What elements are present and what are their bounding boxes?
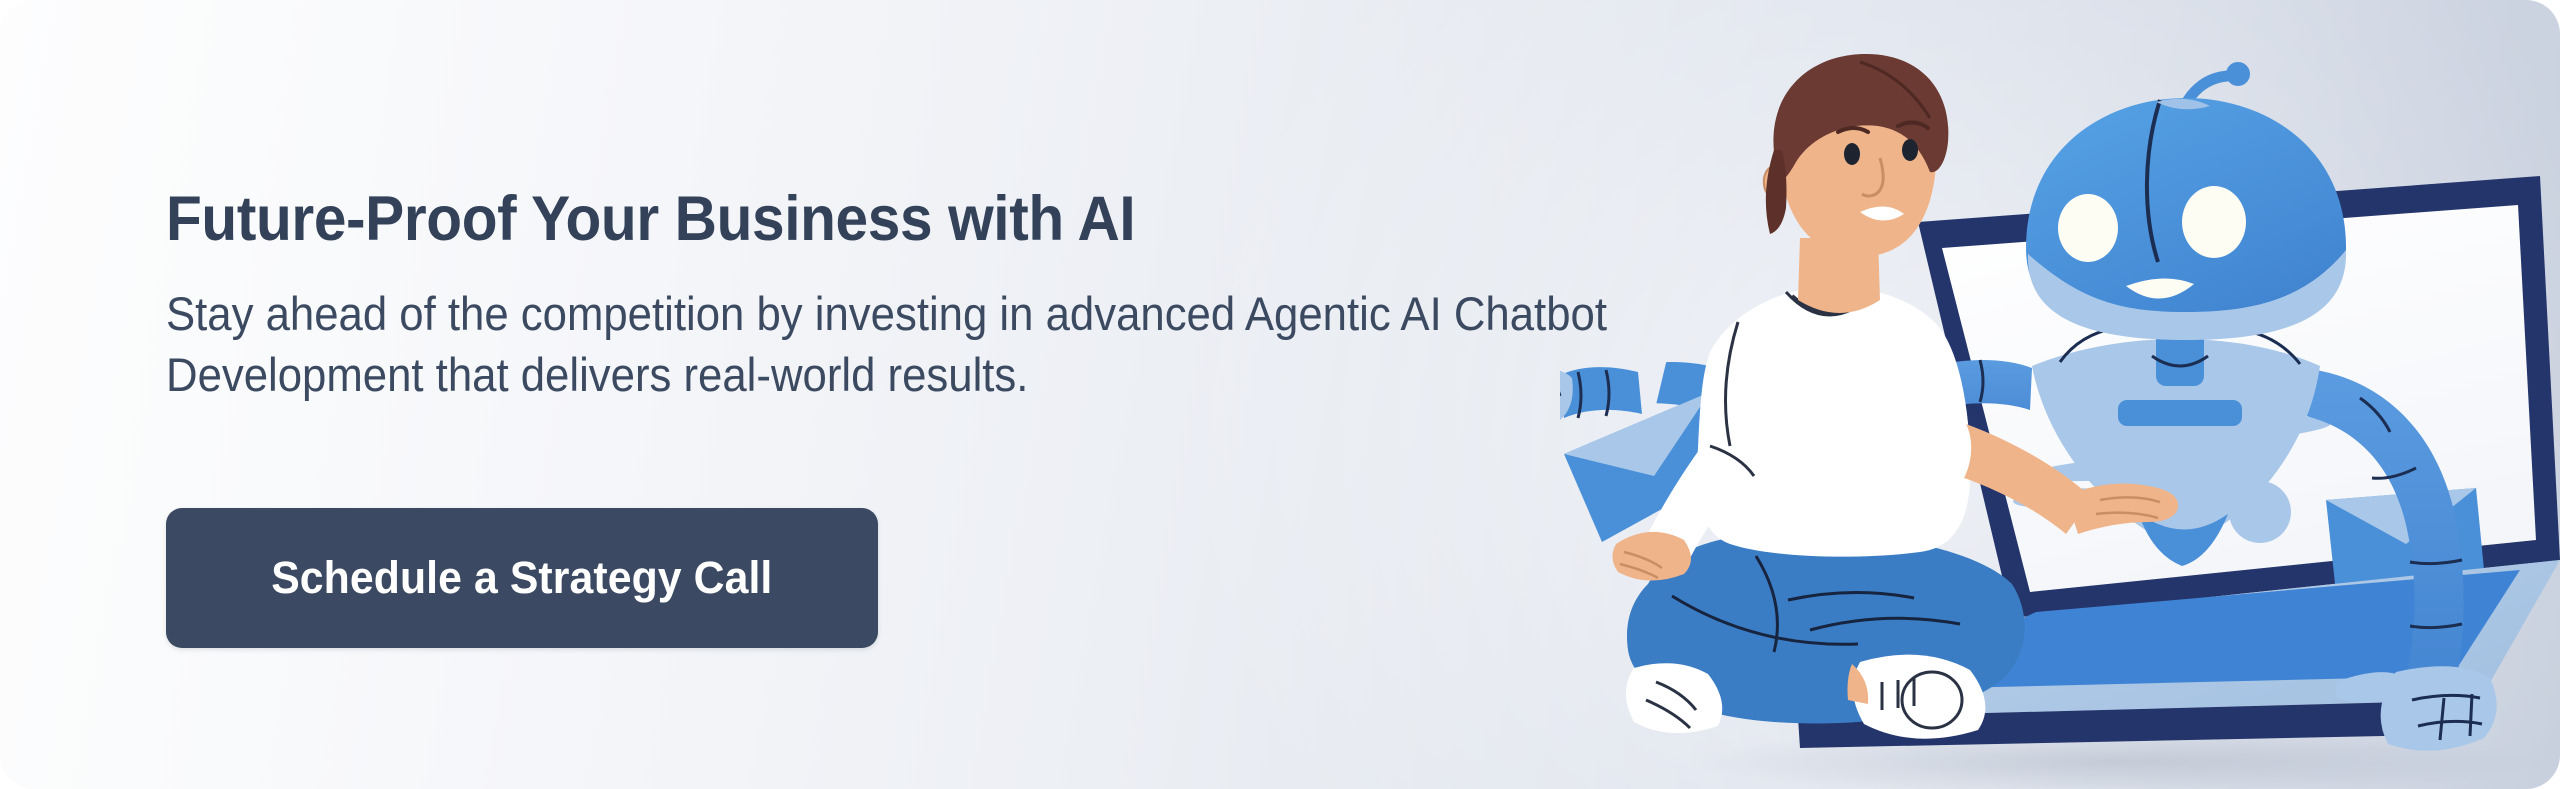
circle-on-screen xyxy=(2229,481,2291,543)
envelope-on-screen xyxy=(2326,488,2485,593)
banner-subtitle-line-1: Stay ahead of the competition by investi… xyxy=(166,283,1338,344)
sneaker-left xyxy=(1626,663,1722,733)
person-right-arm xyxy=(1914,406,2178,534)
robot-chest-bar xyxy=(2118,400,2242,426)
robot-right-hand xyxy=(2336,666,2497,751)
sneaker-right xyxy=(1848,655,1986,739)
robot-smile xyxy=(2126,278,2194,298)
page-title: Future-Proof Your Business with AI xyxy=(166,186,1914,253)
motion-lines xyxy=(2012,410,2332,511)
jeans xyxy=(1627,531,2025,723)
robot-eye-right xyxy=(2182,186,2246,258)
eye-left xyxy=(1844,143,1860,165)
robot-eye-left xyxy=(2058,194,2118,262)
banner-copy: Future-Proof Your Business with AI Stay … xyxy=(166,186,2046,405)
person-left-arm xyxy=(1612,446,1742,581)
envelope-in-hand xyxy=(1564,392,1722,542)
robot-antenna xyxy=(2178,76,2236,128)
eye-right xyxy=(1902,139,1918,161)
robot-torso xyxy=(2032,328,2320,566)
laptop-keyboard xyxy=(1870,570,2520,690)
person-open-hand xyxy=(2066,484,2178,535)
banner-subtitle-line-2: Development that delivers real-world res… xyxy=(166,344,1338,405)
hair xyxy=(1773,54,1949,182)
laptop-base xyxy=(1798,560,2560,718)
laptop-base-edge xyxy=(1798,700,2480,748)
robot-right-arm xyxy=(2296,368,2497,751)
schedule-strategy-call-button[interactable]: Schedule a Strategy Call xyxy=(166,508,878,648)
robot xyxy=(1822,62,2497,751)
robot-neck xyxy=(2156,300,2204,386)
robot-head xyxy=(2026,62,2346,340)
floor-shadow xyxy=(1690,728,2550,789)
cta-banner: Future-Proof Your Business with AI Stay … xyxy=(0,0,2560,789)
cta-button-label: Schedule a Strategy Call xyxy=(271,552,772,604)
banner-subtitle: Stay ahead of the competition by investi… xyxy=(166,253,1338,405)
